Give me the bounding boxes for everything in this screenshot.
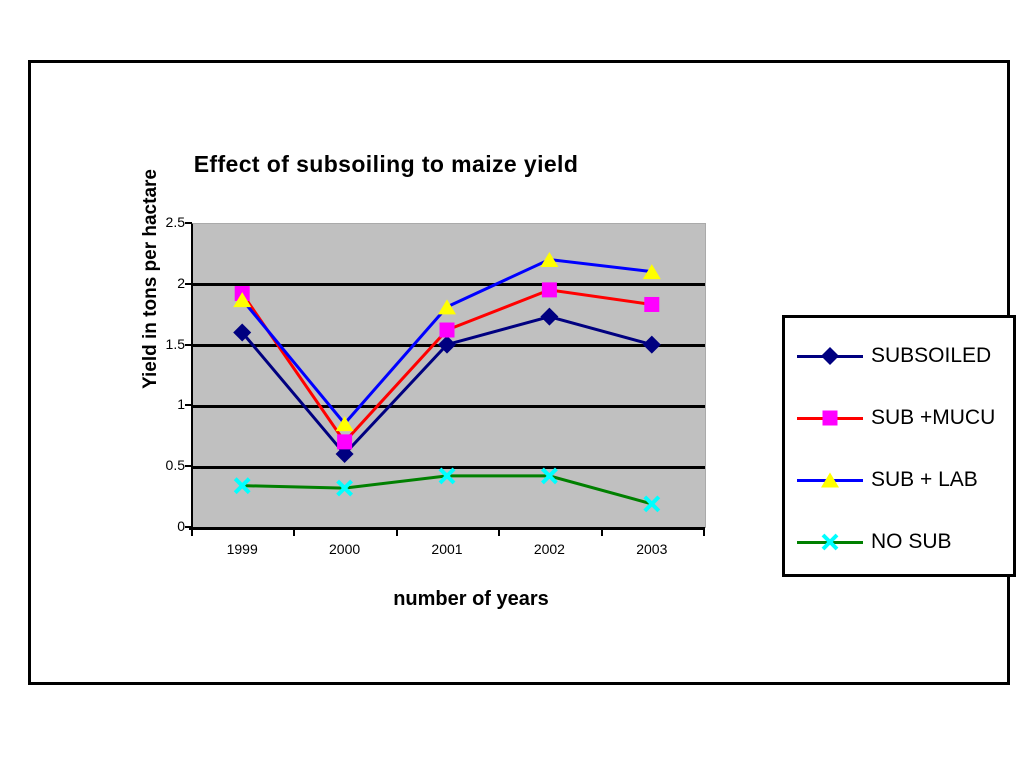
x-tick-mark [601,527,603,536]
legend-label: NO SUB [863,530,952,554]
x-tick-mark [703,527,705,536]
legend-marker-triangle-icon [815,467,845,493]
legend-swatch-no-sub [797,529,863,555]
x-tick-label: 2001 [397,541,497,557]
legend-label: SUB + LAB [863,468,978,492]
legend-item-subsoiled[interactable]: SUBSOILED [797,336,1007,376]
data-point-marker [542,282,557,297]
data-point-marker [643,336,661,354]
legend-item-sub-mucu[interactable]: SUB +MUCU [797,398,1007,438]
y-tick-label: 1.5 [141,337,185,351]
x-tick-label: 2000 [295,541,395,557]
legend-item-sub-lab[interactable]: SUB + LAB [797,460,1007,500]
x-axis-ticks: 19992000200120022003 [191,527,703,561]
chart-legend: SUBSOILEDSUB +MUCUSUB + LABNO SUB [782,315,1016,577]
legend-label: SUBSOILED [863,344,991,368]
legend-item-no-sub[interactable]: NO SUB [797,522,1007,562]
series-line-no-sub [242,476,652,504]
legend-swatch-sub-mucu [797,405,863,431]
legend-swatch-sub-lab [797,467,863,493]
data-point-marker [644,297,659,312]
x-tick-mark [191,527,193,536]
y-axis-ticks: 00.511.522.5 [133,223,185,527]
y-tick-label: 2 [141,276,185,290]
data-point-marker [438,299,456,314]
legend-marker-square-icon [815,405,845,431]
legend-swatch-subsoiled [797,343,863,369]
legend-marker-diamond-icon [815,343,845,369]
x-tick-mark [396,527,398,536]
slide-frame: Effect of subsoiling to maize yield Yiel… [28,60,1010,685]
data-point-marker [440,323,455,338]
x-tick-label: 1999 [192,541,292,557]
x-tick-mark [498,527,500,536]
y-tick-label: 0 [141,519,185,533]
x-axis-title: number of years [191,588,751,611]
chart-title: Effect of subsoiling to maize yield [31,151,741,178]
data-point-marker [337,434,352,449]
y-tick-label: 0.5 [141,458,185,472]
chart-plot-lines [191,223,703,527]
slide-canvas: Effect of subsoiling to maize yield Yiel… [0,0,1024,768]
legend-label: SUB +MUCU [863,406,995,430]
legend-marker-cross-icon [815,529,845,555]
y-tick-label: 1 [141,397,185,411]
x-tick-label: 2002 [499,541,599,557]
data-point-marker [540,308,558,326]
x-tick-label: 2003 [602,541,702,557]
x-tick-mark [293,527,295,536]
y-tick-label: 2.5 [141,215,185,229]
